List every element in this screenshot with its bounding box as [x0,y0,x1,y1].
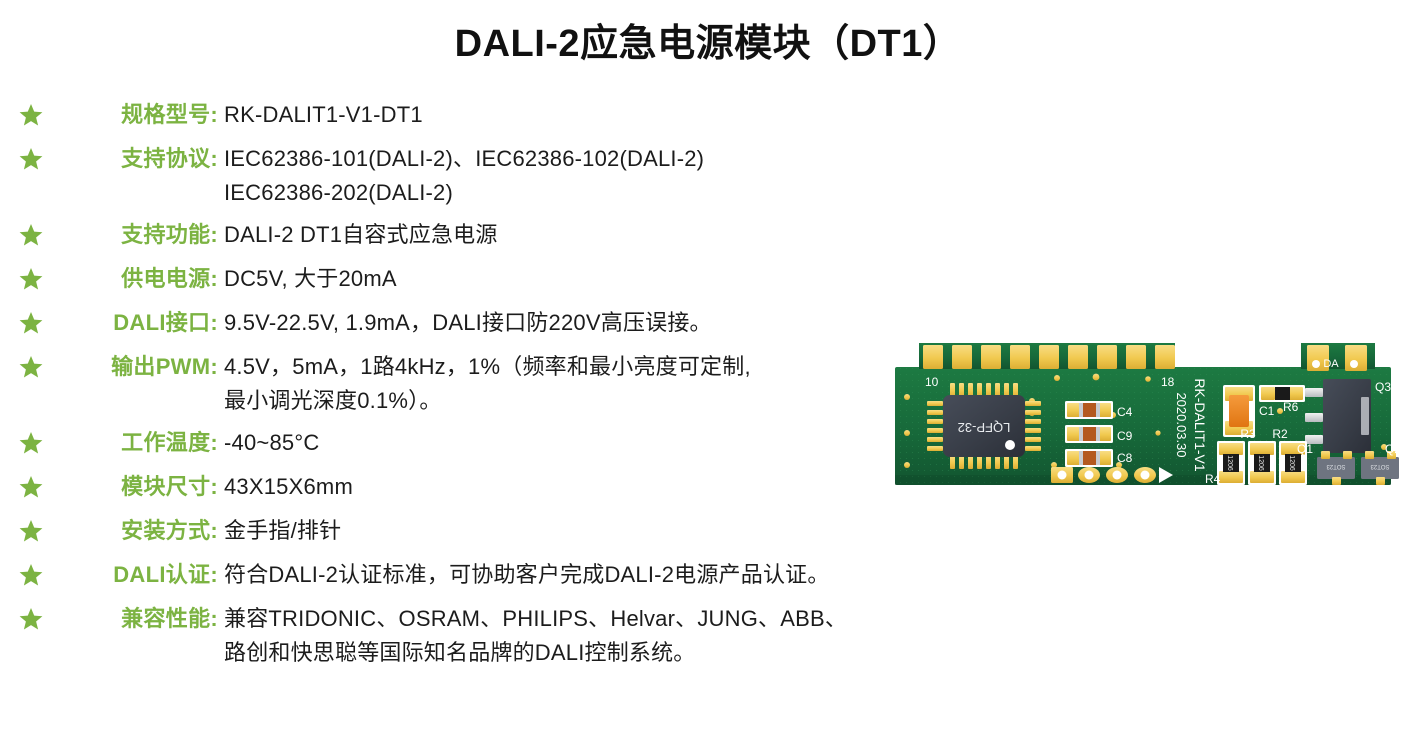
spec-label: 支持协议: [62,142,218,176]
bullet-star-wrap [0,558,62,587]
silk-label-c9: C9 [1117,429,1133,443]
page-title: DALI-2应急电源模块（DT1） [0,12,1416,67]
silk-label-q1: Q1 [1297,442,1313,456]
spec-label: 规格型号: [62,98,218,132]
star-icon [19,267,43,291]
silk-code-r2: 1206 [1288,455,1295,471]
spec-row: 输出PWM:4.5V，5mA，1路4kHz，1%（频率和最小亮度可定制,最小调光… [0,350,960,418]
spec-value-line: 金手指/排针 [224,514,960,548]
silk-code-q2: SOT23 [1370,463,1390,469]
spec-value: 金手指/排针 [218,514,960,548]
spec-value: DALI-2 DT1自容式应急电源 [218,218,960,252]
spec-value-line: 9.5V-22.5V, 1.9mA，DALI接口防220V高压误接。 [224,306,960,340]
silk-label-da: DA [1323,358,1339,370]
spec-label: 输出PWM: [62,350,218,384]
silk-label-c1: C1 [1259,404,1275,418]
spec-value: RK-DALIT1-V1-DT1 [218,98,960,132]
spec-value: 43X15X6mm [218,470,960,504]
bullet-star-wrap [0,306,62,335]
star-icon [19,147,43,171]
silk-label-r3: R3 [1240,427,1256,441]
spec-value: DC5V, 大于20mA [218,262,960,296]
spec-row: 模块尺寸:43X15X6mm [0,470,960,510]
star-icon [19,355,43,379]
bullet-star-wrap [0,98,62,127]
bullet-star-wrap [0,350,62,379]
bullet-star-wrap [0,426,62,455]
star-icon [19,223,43,247]
spec-label: DALI接口: [62,306,218,340]
capacitor-group: C4 C9 C8 [1065,401,1133,467]
spec-value-line: DC5V, 大于20mA [224,262,960,296]
bullet-star-wrap [0,470,62,499]
star-icon [19,607,43,631]
silk-label-board-date: 2020.03.30 [1174,392,1189,457]
star-icon [19,103,43,127]
spec-value-line: 兼容TRIDONIC、OSRAM、PHILIPS、Helvar、JUNG、ABB… [224,602,960,636]
spec-value-line: IEC62386-202(DALI-2) [224,176,960,210]
silk-code-r3: 1206 [1257,455,1264,471]
spec-value-line: -40~85°C [224,426,960,460]
spec-label: 供电电源: [62,262,218,296]
spec-value: 符合DALI-2认证标准，可协助客户完成DALI-2电源产品认证。 [218,558,960,592]
spec-list: 规格型号:RK-DALIT1-V1-DT1支持协议:IEC62386-101(D… [0,98,960,678]
silk-label-board-name: RK-DALIT1-V1 [1192,378,1208,472]
spec-value-line: 符合DALI-2认证标准，可协助客户完成DALI-2电源产品认证。 [224,558,960,592]
silk-label-chip: LQFP-32 [958,420,1011,435]
star-icon [19,431,43,455]
spec-value-line: DALI-2 DT1自容式应急电源 [224,218,960,252]
spec-label: 支持功能: [62,218,218,252]
silk-label-q3: Q3 [1375,380,1391,394]
spec-sheet-page: DALI-2应急电源模块（DT1） 规格型号:RK-DALIT1-V1-DT1支… [0,0,1416,750]
pcb-product-image: DA 10 18 [893,325,1403,520]
spec-label: DALI认证: [62,558,218,592]
spec-row: 支持协议:IEC62386-101(DALI-2)、IEC62386-102(D… [0,142,960,210]
spec-row: 规格型号:RK-DALIT1-V1-DT1 [0,98,960,138]
spec-value: -40~85°C [218,426,960,460]
spec-value: 9.5V-22.5V, 1.9mA，DALI接口防220V高压误接。 [218,306,960,340]
spec-value-line: 43X15X6mm [224,470,960,504]
pcb-illustration: DA 10 18 [893,325,1403,520]
spec-row: 工作温度:-40~85°C [0,426,960,466]
spec-label: 工作温度: [62,426,218,460]
bullet-star-wrap [0,262,62,291]
spec-value-line: RK-DALIT1-V1-DT1 [224,98,960,132]
bullet-star-wrap [0,218,62,247]
silk-label-c8: C8 [1117,451,1133,465]
star-icon [19,475,43,499]
spec-row: DALI认证:符合DALI-2认证标准，可协助客户完成DALI-2电源产品认证。 [0,558,960,598]
silk-label-r2: R2 [1272,427,1288,441]
spec-value-line: IEC62386-101(DALI-2)、IEC62386-102(DALI-2… [224,142,960,176]
silk-label-r4: R4 [1205,472,1221,486]
gold-finger-contacts [923,345,1175,369]
bullet-star-wrap [0,142,62,171]
silk-label-r6: R6 [1283,400,1299,414]
spec-row: 支持功能:DALI-2 DT1自容式应急电源 [0,218,960,258]
silk-label-q2: Q2 [1385,442,1401,456]
spec-value: 4.5V，5mA，1路4kHz，1%（频率和最小亮度可定制,最小调光深度0.1%… [218,350,960,418]
spec-value: IEC62386-101(DALI-2)、IEC62386-102(DALI-2… [218,142,960,210]
silk-code-r4: 1206 [1226,455,1233,471]
star-icon [19,519,43,543]
spec-label: 模块尺寸: [62,470,218,504]
spec-row: 安装方式:金手指/排针 [0,514,960,554]
silk-code-q1: SOT23 [1326,463,1346,469]
star-icon [19,563,43,587]
spec-row: DALI接口:9.5V-22.5V, 1.9mA，DALI接口防220V高压误接… [0,306,960,346]
spec-label: 安装方式: [62,514,218,548]
bullet-star-wrap [0,602,62,631]
spec-value: 兼容TRIDONIC、OSRAM、PHILIPS、Helvar、JUNG、ABB… [218,602,960,670]
spec-label: 兼容性能: [62,602,218,636]
silk-label-pin-start: 10 [925,375,939,389]
spec-value-line: 路创和快思聪等国际知名品牌的DALI控制系统。 [224,636,960,670]
spec-row: 兼容性能:兼容TRIDONIC、OSRAM、PHILIPS、Helvar、JUN… [0,602,960,670]
spec-value-line: 4.5V，5mA，1路4kHz，1%（频率和最小亮度可定制, [224,350,960,384]
spec-value-line: 最小调光深度0.1%）。 [224,384,960,418]
bullet-star-wrap [0,514,62,543]
silk-label-pin-end: 18 [1161,375,1175,389]
spec-row: 供电电源:DC5V, 大于20mA [0,262,960,302]
silk-label-c4: C4 [1117,405,1133,419]
star-icon [19,311,43,335]
